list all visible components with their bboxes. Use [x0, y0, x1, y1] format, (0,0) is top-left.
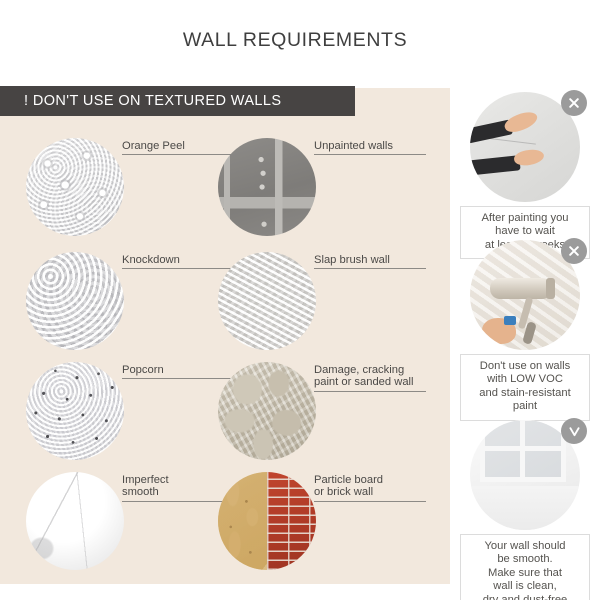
requirement-caption: Don't use on walls with LOW VOC and stai… — [460, 354, 590, 421]
brick-wall-half — [267, 472, 316, 570]
window-mullion-vertical — [520, 420, 525, 482]
texture-label-group: Damage, cracking paint or sanded wall — [314, 364, 428, 392]
texture-label-group: Particle board or brick wall — [314, 474, 428, 502]
requirements-column: After painting you have to wait at least… — [455, 92, 595, 592]
orange-peel-texture — [26, 138, 124, 236]
page-title: WALL REQUIREMENTS — [0, 29, 590, 52]
texture-label: Particle board or brick wall — [314, 474, 428, 499]
blue-tool-detail — [504, 316, 516, 325]
knockdown-texture — [26, 252, 124, 350]
particle-board-half — [218, 472, 267, 570]
label-underline — [314, 268, 426, 269]
texture-label: Unpainted walls — [314, 140, 428, 152]
card-photo — [470, 420, 580, 530]
texture-grid: Orange Peel Unpainted walls Knockdown Sl… — [0, 122, 450, 584]
texture-item: Popcorn — [26, 354, 236, 466]
x-icon — [561, 90, 587, 116]
texture-label: Slap brush wall — [314, 254, 428, 266]
texture-item: Damage, cracking paint or sanded wall — [218, 354, 428, 466]
texture-item: Knockdown — [26, 244, 236, 356]
label-underline — [314, 391, 426, 392]
texture-item: Imperfect smooth — [26, 464, 236, 576]
card-photo — [470, 240, 580, 350]
requirement-caption: Your wall should be smooth. Make sure th… — [460, 534, 590, 600]
warning-banner: ! DON'T USE ON TEXTURED WALLS — [0, 86, 355, 116]
texture-label-group: Unpainted walls — [314, 140, 428, 155]
window-mullion-horizontal — [480, 446, 566, 451]
check-icon — [561, 418, 587, 444]
hand-lower — [513, 148, 545, 168]
popcorn-texture — [26, 362, 124, 460]
slap-brush-texture — [218, 252, 316, 350]
particle-board-brick-texture — [218, 472, 316, 570]
x-icon — [561, 238, 587, 264]
unpainted-wall-photo — [218, 138, 316, 236]
imperfect-smooth-texture — [26, 472, 124, 570]
label-underline — [314, 154, 426, 155]
warning-banner-label: ! DON'T USE ON TEXTURED WALLS — [0, 93, 281, 109]
texture-label-group: Slap brush wall — [314, 254, 428, 269]
roller-cap — [546, 278, 555, 299]
smooth-wall-surface — [470, 486, 580, 530]
texture-item: Orange Peel — [26, 130, 236, 242]
label-underline — [314, 501, 426, 502]
texture-item: Unpainted walls — [218, 130, 428, 242]
requirement-card: After painting you have to wait at least… — [455, 92, 595, 259]
damaged-wall-texture — [218, 362, 316, 460]
card-photo — [470, 92, 580, 202]
infographic-page: WALL REQUIREMENTS ! DON'T USE ON TEXTURE… — [0, 0, 600, 600]
texture-label: Damage, cracking paint or sanded wall — [314, 364, 428, 389]
requirement-card: Don't use on walls with LOW VOC and stai… — [455, 240, 595, 421]
texture-item: Slap brush wall — [218, 244, 428, 356]
roller-barrel — [490, 278, 552, 299]
texture-item: Particle board or brick wall — [218, 464, 428, 576]
hand-upper — [502, 108, 540, 136]
requirement-card: Your wall should be smooth. Make sure th… — [455, 420, 595, 600]
